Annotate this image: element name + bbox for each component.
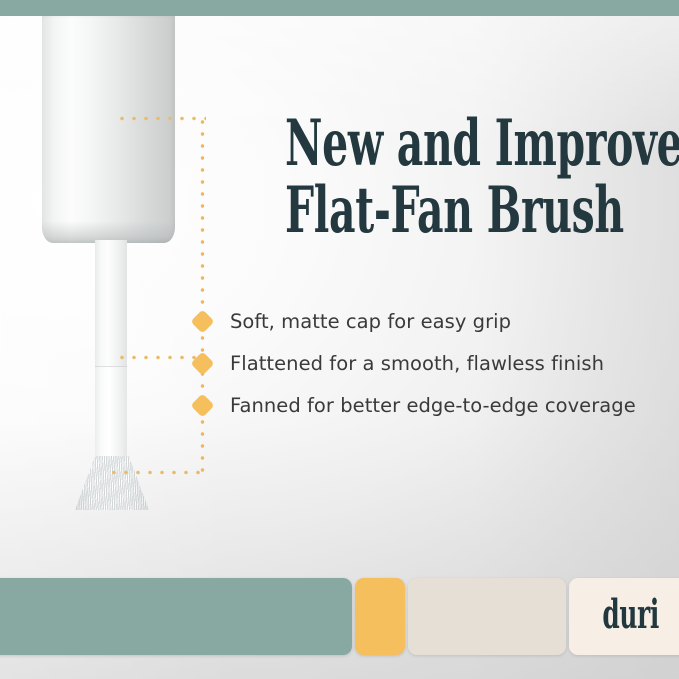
- bullet-label: Fanned for better edge-to-edge coverage: [230, 394, 636, 417]
- color-block-amber: [355, 578, 405, 655]
- list-item: Flattened for a smooth, flawless finish: [190, 342, 660, 384]
- color-block-beige: [408, 578, 566, 655]
- brush-cap: [42, 16, 175, 243]
- headline-line-2: Flat-Fan Brush: [285, 179, 528, 242]
- diamond-marker-icon: [190, 393, 214, 417]
- list-item: Soft, matte cap for easy grip: [190, 300, 660, 342]
- bullet-label: Soft, matte cap for easy grip: [230, 310, 511, 333]
- product-image-brush: [0, 16, 230, 516]
- color-block-teal: [0, 578, 352, 655]
- leader-line-to-cap: [116, 116, 206, 121]
- brand-logo-block: duri: [569, 578, 679, 655]
- top-accent-bar: [0, 0, 679, 16]
- diamond-marker-icon: [190, 351, 214, 375]
- leader-line-to-bristles: [108, 470, 206, 475]
- headline-line-1: New and Improved: [285, 112, 528, 175]
- diamond-marker-icon: [190, 309, 214, 333]
- brush-stem-lower: [95, 367, 127, 459]
- brush-bristles-shading: [70, 456, 154, 510]
- product-feature-graphic: New and Improved Flat-Fan Brush Soft, ma…: [0, 0, 679, 679]
- brand-logo-text: duri: [603, 595, 660, 639]
- bottom-color-bar: duri: [0, 578, 679, 655]
- bullet-label: Flattened for a smooth, flawless finish: [230, 352, 604, 375]
- brush-stem-upper: [95, 240, 127, 367]
- feature-bullet-list: Soft, matte cap for easy grip Flattened …: [190, 300, 660, 426]
- headline: New and Improved Flat-Fan Brush: [285, 112, 665, 242]
- list-item: Fanned for better edge-to-edge coverage: [190, 384, 660, 426]
